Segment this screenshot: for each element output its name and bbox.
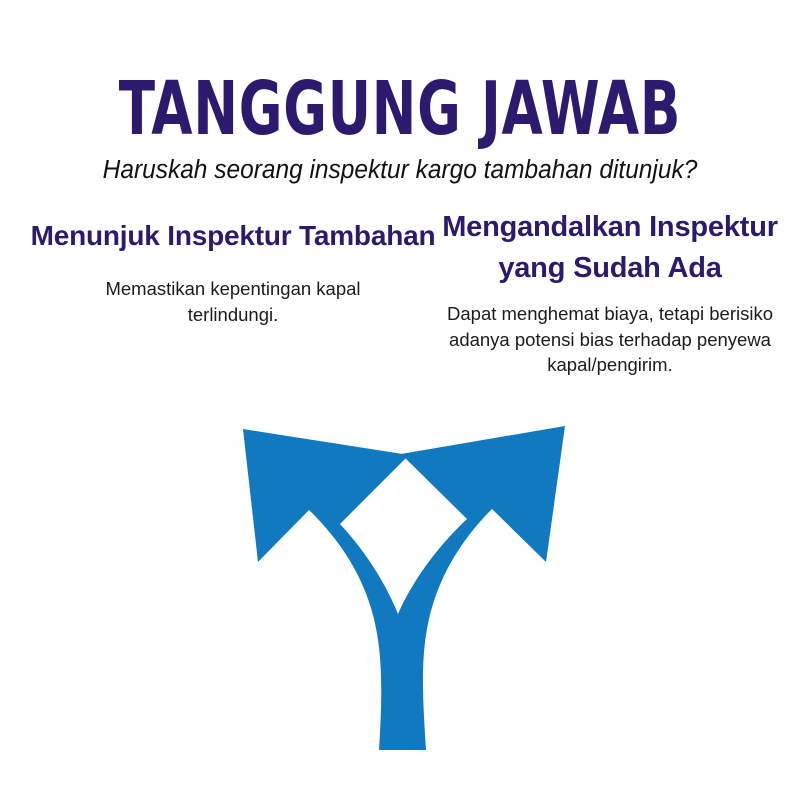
option-left-description: Memastikan kepentingan kapal terlindungi… bbox=[28, 276, 438, 327]
forked-arrow-icon bbox=[216, 414, 592, 764]
infographic-poster: TANGGUNG JAWAB Haruskah seorang inspektu… bbox=[0, 0, 800, 800]
page-subtitle: Haruskah seorang inspektur kargo tambaha… bbox=[16, 155, 784, 186]
forked-arrow-graphic bbox=[216, 414, 592, 764]
option-column-left: Menunjuk Inspektur Tambahan Memastikan k… bbox=[28, 216, 438, 327]
option-right-heading: Mengandalkan Inspektur yang Sudah Ada bbox=[420, 207, 800, 289]
option-right-description: Dapat menghemat biaya, tetapi berisiko a… bbox=[420, 301, 800, 378]
page-title: TANGGUNG JAWAB bbox=[80, 72, 720, 146]
option-left-heading: Menunjuk Inspektur Tambahan bbox=[28, 216, 438, 255]
option-column-right: Mengandalkan Inspektur yang Sudah Ada Da… bbox=[420, 207, 800, 378]
forked-arrow-path bbox=[243, 426, 565, 750]
